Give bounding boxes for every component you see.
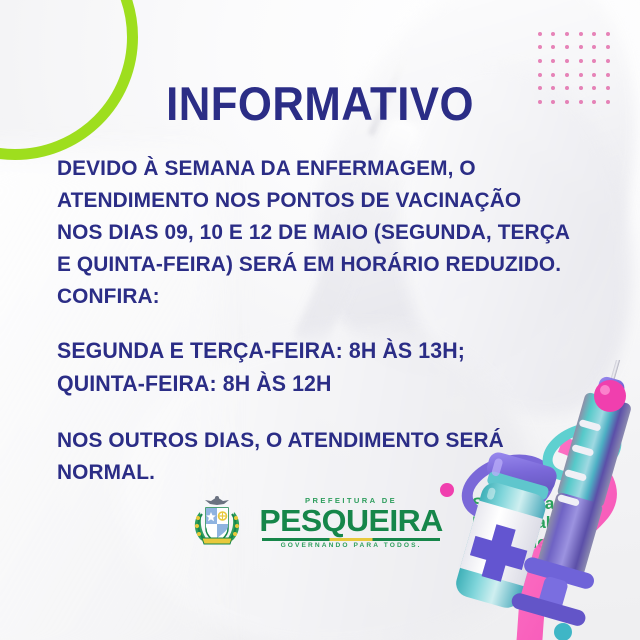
poster-canvas: INFORMATIVO DEVIDO À SEMANA DA ENFERMAGE…	[0, 0, 640, 640]
pink-sphere-small	[440, 483, 454, 497]
paragraph-intro: DEVIDO À SEMANA DA ENFERMAGEM, O ATENDIM…	[57, 152, 571, 312]
vaccine-illustration	[430, 360, 640, 640]
prefeitura-slogan: GOVERNANDO PARA TODOS.	[281, 543, 422, 550]
pink-sphere-large	[594, 380, 626, 412]
page-title: INFORMATIVO	[22, 76, 617, 131]
pesqueira-coat-of-arms-icon	[186, 492, 248, 554]
prefeitura-name: PESQUEIRA	[259, 506, 442, 535]
teal-sphere-small	[554, 623, 572, 640]
prefeitura-wordmark: PREFEITURA DE PESQUEIRA GOVERNANDO PARA …	[262, 497, 440, 550]
